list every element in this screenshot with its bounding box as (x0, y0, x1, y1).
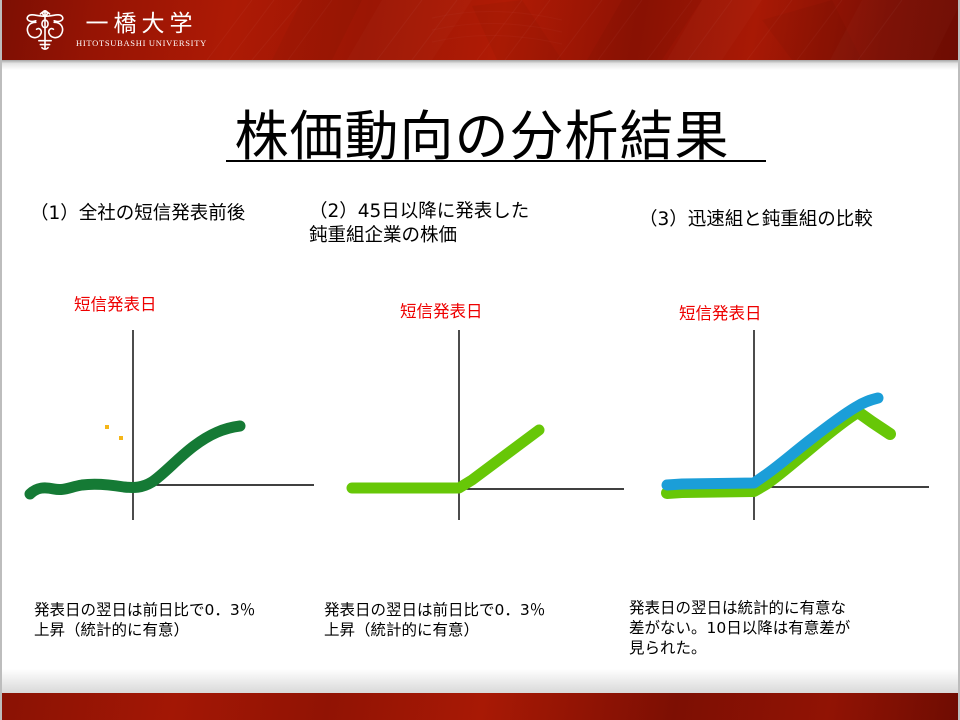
section-heading-2: （2）45日以降に発表した 鈍重組企業の株価 (309, 200, 529, 247)
header-shadow (2, 60, 960, 70)
section-caption-1: 発表日の翌日は前日比で0．3％ 上昇（統計的に有意） (34, 600, 324, 640)
chart-1-series-all-companies (30, 426, 240, 494)
chart-2 (332, 330, 642, 520)
logo-name-ja: 一橋大学 (85, 13, 197, 36)
logo-name-en: HITOTSUBASHI UNIVERSITY (76, 39, 207, 48)
title-underline (226, 160, 766, 162)
slide-canvas: 一橋大学 HITOTSUBASHI UNIVERSITY 株価動向の分析結果 （… (0, 0, 960, 720)
footer-band (2, 693, 960, 720)
announcement-day-label-2: 短信発表日 (400, 298, 483, 322)
header-band: 一橋大学 HITOTSUBASHI UNIVERSITY (2, 0, 960, 60)
chart-1-orange-dot (105, 425, 109, 429)
chart-3 (642, 330, 952, 520)
footer-fade (2, 669, 960, 693)
chart-3-series-fast-group (667, 398, 878, 485)
announcement-day-label-3: 短信発表日 (679, 300, 762, 324)
chart-1 (12, 330, 322, 520)
chart-2-series-slow-group (352, 430, 539, 488)
section-caption-3: 発表日の翌日は統計的に有意な 差がない。10日以降は有意差が 見られた。 (629, 598, 929, 658)
hitotsubashi-emblem-icon (22, 7, 68, 53)
university-logo: 一橋大学 HITOTSUBASHI UNIVERSITY (22, 6, 212, 54)
section-heading-3: （3）迅速組と鈍重組の比較 (639, 208, 873, 232)
announcement-day-label-1: 短信発表日 (74, 291, 157, 315)
chart-1-orange-dot (119, 436, 123, 440)
section-caption-2: 発表日の翌日は前日比で0．3％ 上昇（統計的に有意） (324, 600, 614, 640)
section-heading-1: （1）全社の短信発表前後 (30, 202, 245, 226)
